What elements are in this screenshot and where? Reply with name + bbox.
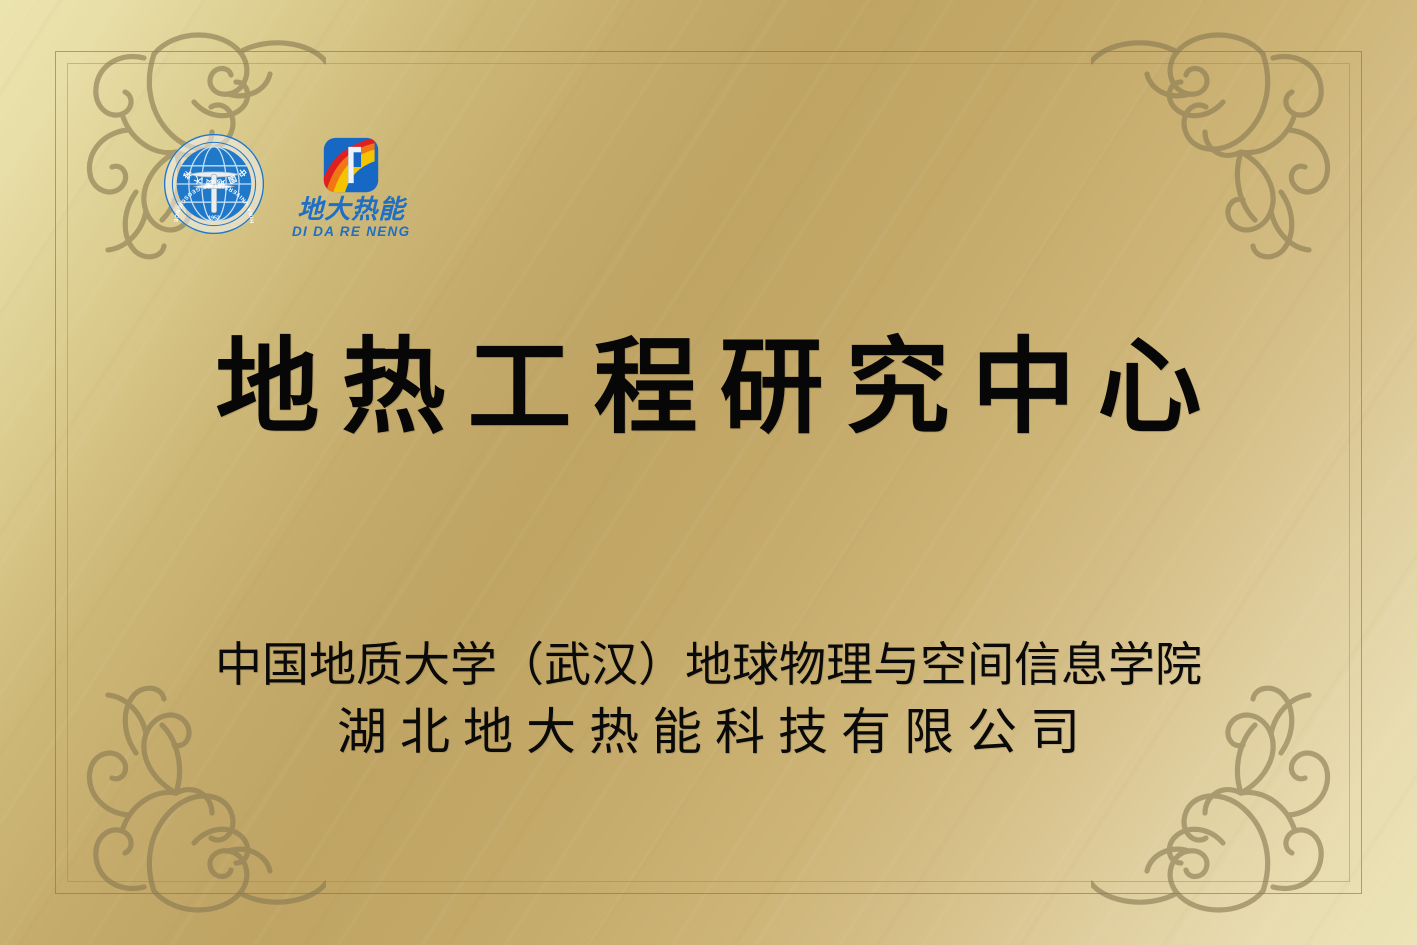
filigree-corner-ornament-top-right (1091, 6, 1391, 266)
subtitle-line-company: 湖北地大热能科技有限公司 (0, 700, 1417, 765)
svg-text:1952: 1952 (208, 216, 220, 222)
plaque-title: 地热工程研究中心 (0, 330, 1417, 446)
logo-row: 中国地质大学 CHINA UNIVERSITY OF GEOSCIENCES 1… (162, 132, 410, 239)
cug-seal-icon: 中国地质大学 CHINA UNIVERSITY OF GEOSCIENCES 1… (162, 132, 266, 236)
didareneng-mark-icon (322, 136, 380, 194)
subtitle-line-university: 中国地质大学（武汉）地球物理与空间信息学院 (0, 638, 1417, 692)
didareneng-logo: 地大热能 DI DA RE NENG (292, 136, 410, 239)
award-plaque: 中国地质大学 CHINA UNIVERSITY OF GEOSCIENCES 1… (0, 0, 1417, 945)
plaque-subtitle-block: 中国地质大学（武汉）地球物理与空间信息学院 湖北地大热能科技有限公司 (0, 638, 1417, 765)
didareneng-name-en: DI DA RE NENG (292, 225, 410, 239)
didareneng-name-cn: 地大热能 (297, 196, 405, 222)
